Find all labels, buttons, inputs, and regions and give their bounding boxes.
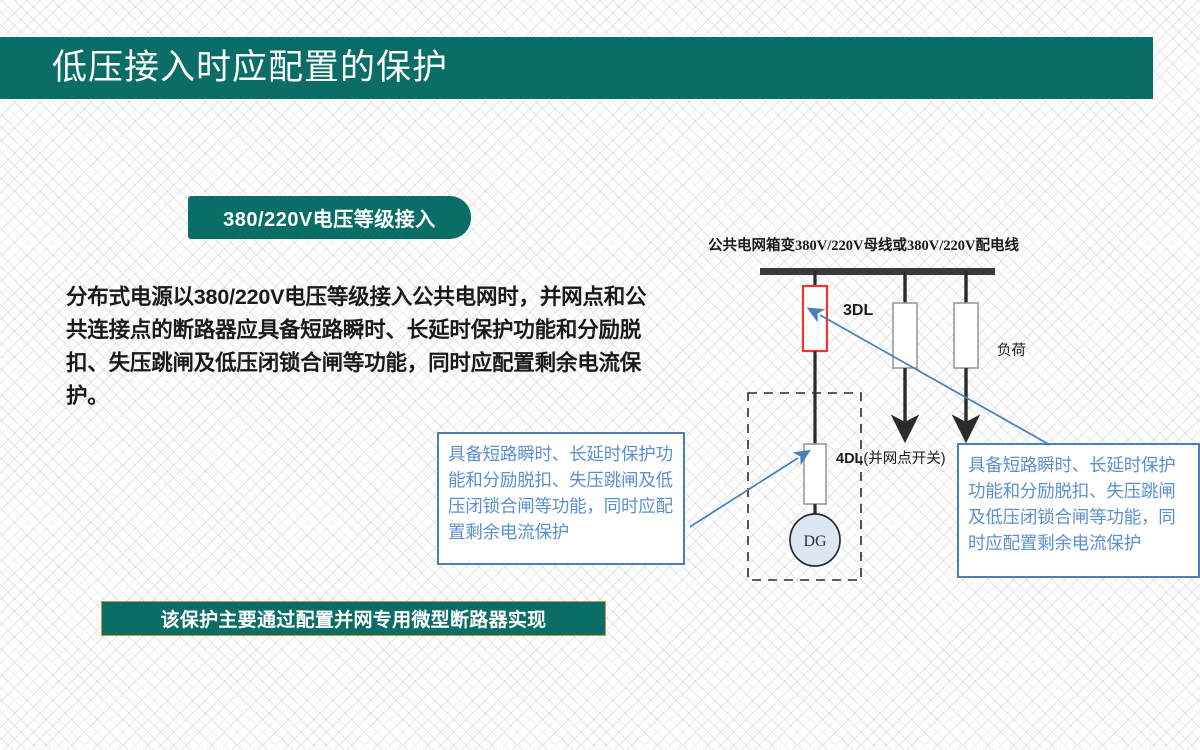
dg-generator-label: DG xyxy=(803,533,827,550)
page-title: 低压接入时应配置的保护 xyxy=(52,44,448,92)
leader-arrow-right-to-3dl xyxy=(820,315,1050,445)
breaker-load-2-symbol xyxy=(954,303,978,368)
breaker-3dl-label: 3DL xyxy=(843,302,873,320)
busbar xyxy=(760,268,995,275)
section-pill-label-text: 380/220V电压等级接入 xyxy=(223,203,436,232)
conclusion-text: 该保护主要通过配置并网专用微型断路器实现 xyxy=(160,605,546,632)
breaker-3dl-symbol xyxy=(803,286,827,351)
breaker-4dl-label-main: 4DL xyxy=(836,451,863,467)
breaker-4dl-label-sub: (并网点开关) xyxy=(863,451,945,467)
leader-arrow-left-to-4dl xyxy=(690,458,798,530)
busbar-label: 公共电网箱变380V/220V母线或380V/220V配电线 xyxy=(708,234,1019,255)
single-line-diagram: DG xyxy=(690,230,1200,600)
body-paragraph: 分布式电源以380/220V电压等级接入公共电网时，并网点和公共连接点的断路器应… xyxy=(66,281,666,413)
conclusion-box: 该保护主要通过配置并网专用微型断路器实现 xyxy=(101,601,606,636)
feeder-load-2 xyxy=(954,271,978,428)
load-label: 负荷 xyxy=(997,339,1026,360)
breaker-4dl-label: 4DL(并网点开关) xyxy=(836,447,946,468)
feeder-main-3dl xyxy=(803,271,827,444)
section-pill-label: 380/220V电压等级接入 xyxy=(188,196,471,239)
feeder-dg-4dl: DG xyxy=(790,444,840,566)
feeder-load-1 xyxy=(893,271,917,428)
slide-canvas: 低压接入时应配置的保护 380/220V电压等级接入 分布式电源以380/220… xyxy=(0,0,1200,750)
breaker-4dl-symbol xyxy=(804,444,826,504)
callout-box-left: 具备短路瞬时、长延时保护功能和分励脱扣、失压跳闸及低压闭锁合闸等功能，同时应配置… xyxy=(437,432,685,565)
